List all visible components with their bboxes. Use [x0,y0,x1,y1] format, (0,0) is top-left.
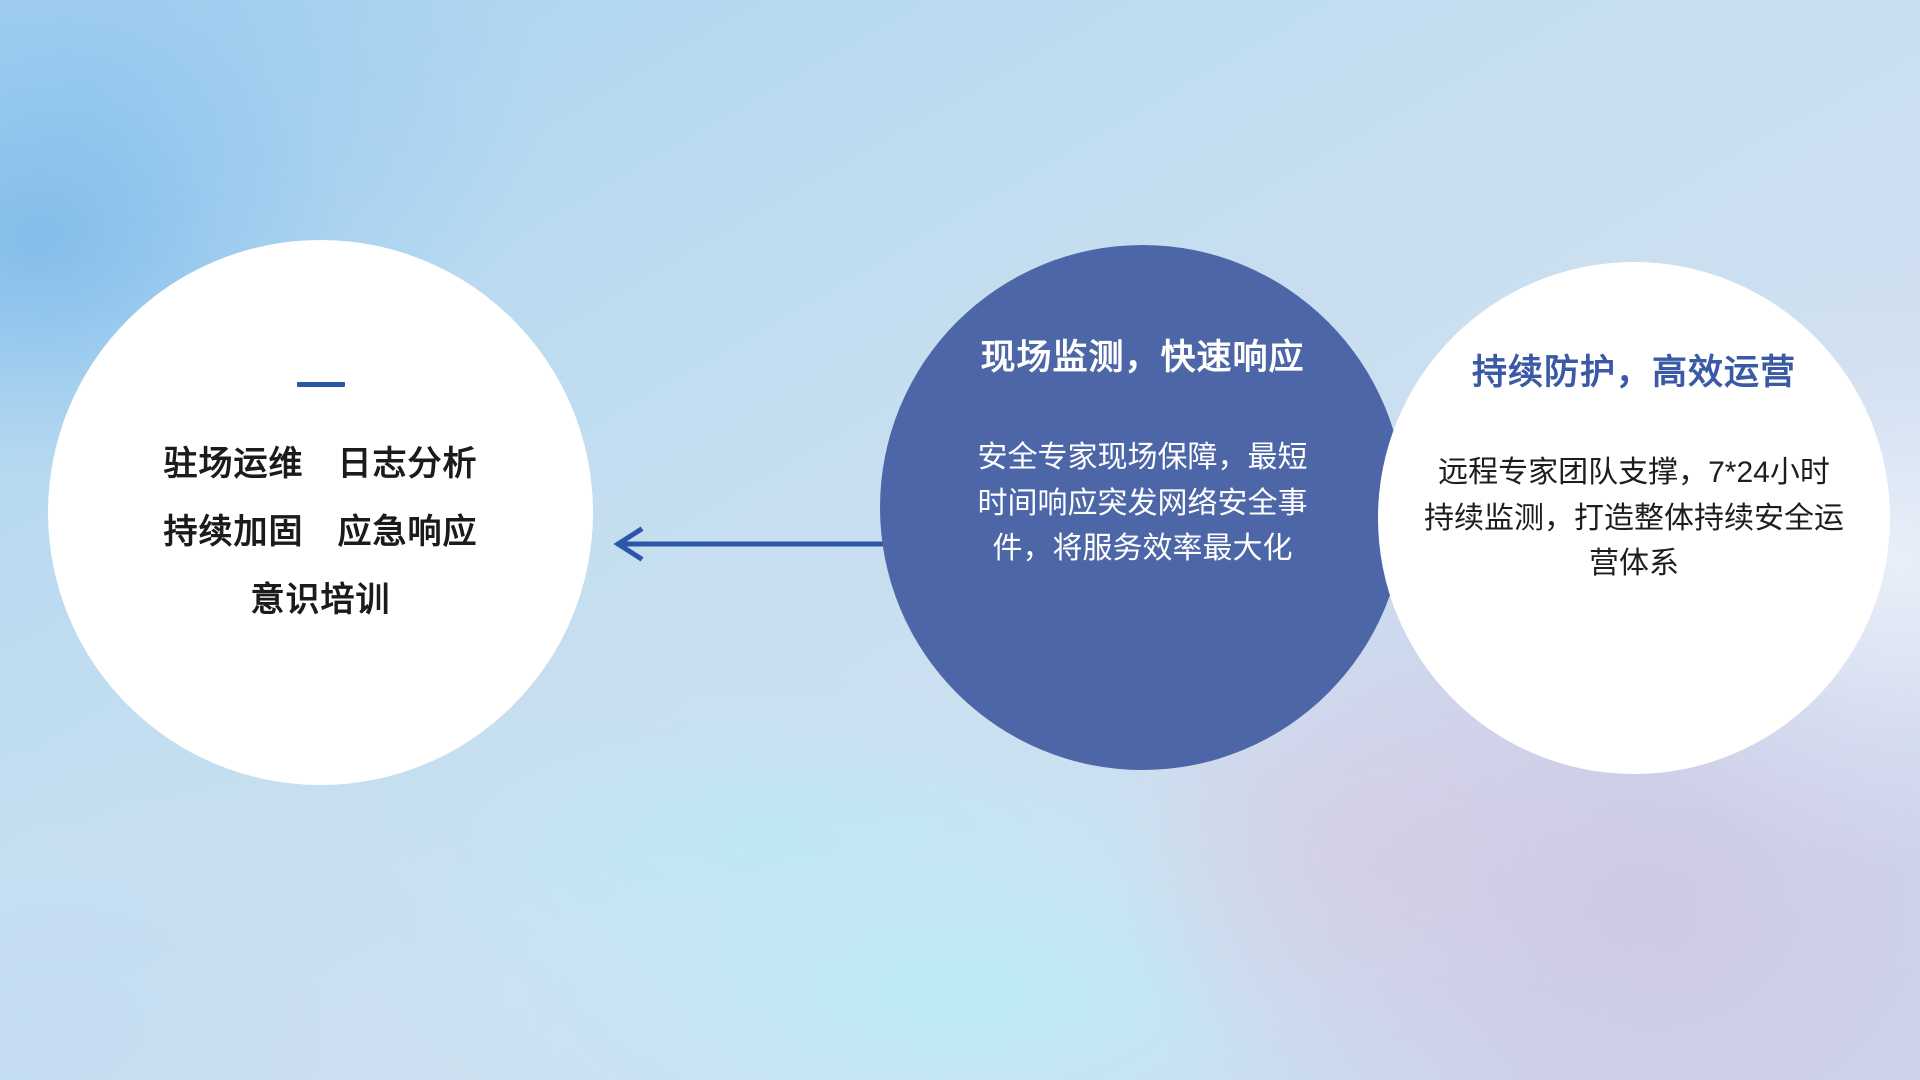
capabilities-circle: 驻场运维 日志分析 持续加固 应急响应 意识培训 [48,240,593,785]
capabilities-list: 驻场运维 日志分析 持续加固 应急响应 意识培训 [164,447,478,617]
onsite-monitoring-body: 安全专家现场保障，最短时间响应突发网络安全事件，将服务效率最大化 [978,435,1308,572]
continuous-protection-title: 持续防护，高效运营 [1472,352,1796,394]
capabilities-row: 持续加固 应急响应 [164,515,478,549]
onsite-monitoring-circle: 现场监测，快速响应 安全专家现场保障，最短时间响应突发网络安全事件，将服务效率最… [880,245,1405,770]
capability-item: 驻场运维 [164,447,304,481]
title-divider [297,382,345,387]
capability-item: 应急响应 [338,515,478,549]
capability-item: 持续加固 [164,515,304,549]
capabilities-row: 驻场运维 日志分析 [164,447,478,481]
continuous-protection-body: 远程专家团队支撑，7*24小时持续监测，打造整体持续安全运营体系 [1424,450,1844,587]
capabilities-row: 意识培训 [251,583,391,617]
capability-item: 日志分析 [338,447,478,481]
onsite-monitoring-title: 现场监测，快速响应 [980,337,1304,379]
continuous-protection-circle: 持续防护，高效运营 远程专家团队支撑，7*24小时持续监测，打造整体持续安全运营… [1378,262,1890,774]
slide-canvas: 驻场运维 日志分析 持续加固 应急响应 意识培训 现场监测，快速响应 安全专家现… [0,0,1920,1080]
capability-item: 意识培训 [251,583,391,617]
